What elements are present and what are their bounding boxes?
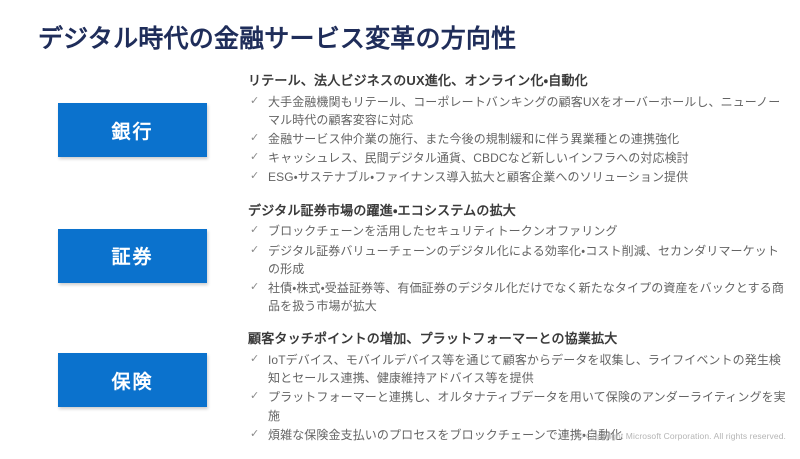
list-item: ✓ デジタル証券バリューチェーンのデジタル化による効率化・コスト削減、セカンダリ… [248,242,786,278]
list-item: ✓ プラットフォーマーと連携し、オルタナティブデータを用いて保険のアンダーライテ… [248,388,786,424]
check-icon: ✓ [250,93,259,111]
category-badge-bank[interactable]: 銀行 [58,103,207,157]
list-item-text: ESG・サステナブル・ファイナンス導入拡大と顧客企業へのソリューション提供 [268,170,688,184]
check-icon: ✓ [250,242,259,260]
section-heading-insurance: 顧客タッチポイントの増加、プラットフォーマーとの協業拡大 [248,330,786,348]
label-cell-insurance: 保険 [0,330,248,407]
section-row-insurance: 保険 顧客タッチポイントの増加、プラットフォーマーとの協業拡大 ✓ IoTデバイ… [0,330,800,445]
list-item-text: IoTデバイス、モバイルデバイス等を通じて顧客からデータを収集し、ライフイベント… [268,353,781,385]
list-item: ✓ ESG・サステナブル・ファイナンス導入拡大と顧客企業へのソリューション提供 [248,168,786,186]
text-cell-securities: デジタル証券市場の躍進・エコシステムの拡大 ✓ ブロックチェーンを活用したセキュ… [248,202,800,317]
check-icon: ✓ [250,149,259,167]
sections-container: 銀行 リテール、法人ビジネスのUX進化、オンライン化・自動化 ✓ 大手金融機関も… [0,72,800,459]
list-item-text: 金融サービス仲介業の施行、また今後の規制緩和に伴う異業種との連携強化 [268,132,679,146]
list-item-text: 煩雑な保険金支払いのプロセスをブロックチェーンで連携・自動化 [268,428,622,442]
list-item: ✓ 大手金融機関もリテール、コーポレートバンキングの顧客UXをオーバーホールし、… [248,93,786,129]
category-badge-insurance[interactable]: 保険 [58,353,207,407]
label-cell-bank: 銀行 [0,72,248,157]
text-cell-bank: リテール、法人ビジネスのUX進化、オンライン化・自動化 ✓ 大手金融機関もリテー… [248,72,800,188]
list-item-text: ブロックチェーンを活用したセキュリティトークンオファリング [268,224,618,238]
list-item: ✓ 社債・株式・受益証券等、有価証券のデジタル化だけでなく新たなタイプの資産をバ… [248,279,786,315]
check-icon: ✓ [250,279,259,297]
section-heading-bank: リテール、法人ビジネスのUX進化、オンライン化・自動化 [248,72,786,90]
list-item-text: デジタル証券バリューチェーンのデジタル化による効率化・コスト削減、セカンダリマー… [268,244,779,276]
list-item: ✓ IoTデバイス、モバイルデバイス等を通じて顧客からデータを収集し、ライフイベ… [248,351,786,387]
label-cell-securities: 証券 [0,202,248,283]
list-item-text: プラットフォーマーと連携し、オルタナティブデータを用いて保険のアンダーライティン… [268,390,786,422]
list-item-text: キャッシュレス、民間デジタル通貨、CBDCなど新しいインフラへの対応検討 [268,151,689,165]
section-row-bank: 銀行 リテール、法人ビジネスのUX進化、オンライン化・自動化 ✓ 大手金融機関も… [0,72,800,188]
check-icon: ✓ [250,351,259,369]
check-icon: ✓ [250,130,259,148]
list-item-text: 社債・株式・受益証券等、有価証券のデジタル化だけでなく新たなタイプの資産をバック… [268,281,784,313]
slide-canvas: デジタル時代の金融サービス変革の方向性 銀行 リテール、法人ビジネスのUX進化、… [0,0,800,450]
list-item: ✓ 金融サービス仲介業の施行、また今後の規制緩和に伴う異業種との連携強化 [248,130,786,148]
list-item: ✓ ブロックチェーンを活用したセキュリティトークンオファリング [248,222,786,240]
section-heading-securities: デジタル証券市場の躍進・エコシステムの拡大 [248,202,786,220]
text-cell-insurance: 顧客タッチポイントの増加、プラットフォーマーとの協業拡大 ✓ IoTデバイス、モ… [248,330,800,445]
page-title: デジタル時代の金融サービス変革の方向性 [38,24,516,54]
copyright-footer: © Copyright Microsoft Corporation. All r… [577,431,786,441]
check-icon: ✓ [250,222,259,240]
list-item: ✓ キャッシュレス、民間デジタル通貨、CBDCなど新しいインフラへの対応検討 [248,149,786,167]
section-row-securities: 証券 デジタル証券市場の躍進・エコシステムの拡大 ✓ ブロックチェーンを活用した… [0,202,800,317]
check-icon: ✓ [250,388,259,406]
bullet-list-securities: ✓ ブロックチェーンを活用したセキュリティトークンオファリング ✓ デジタル証券… [248,222,786,315]
check-icon: ✓ [250,426,259,444]
bullet-list-bank: ✓ 大手金融機関もリテール、コーポレートバンキングの顧客UXをオーバーホールし、… [248,93,786,187]
list-item-text: 大手金融機関もリテール、コーポレートバンキングの顧客UXをオーバーホールし、ニュ… [268,95,780,127]
check-icon: ✓ [250,168,259,186]
category-badge-securities[interactable]: 証券 [58,229,207,283]
